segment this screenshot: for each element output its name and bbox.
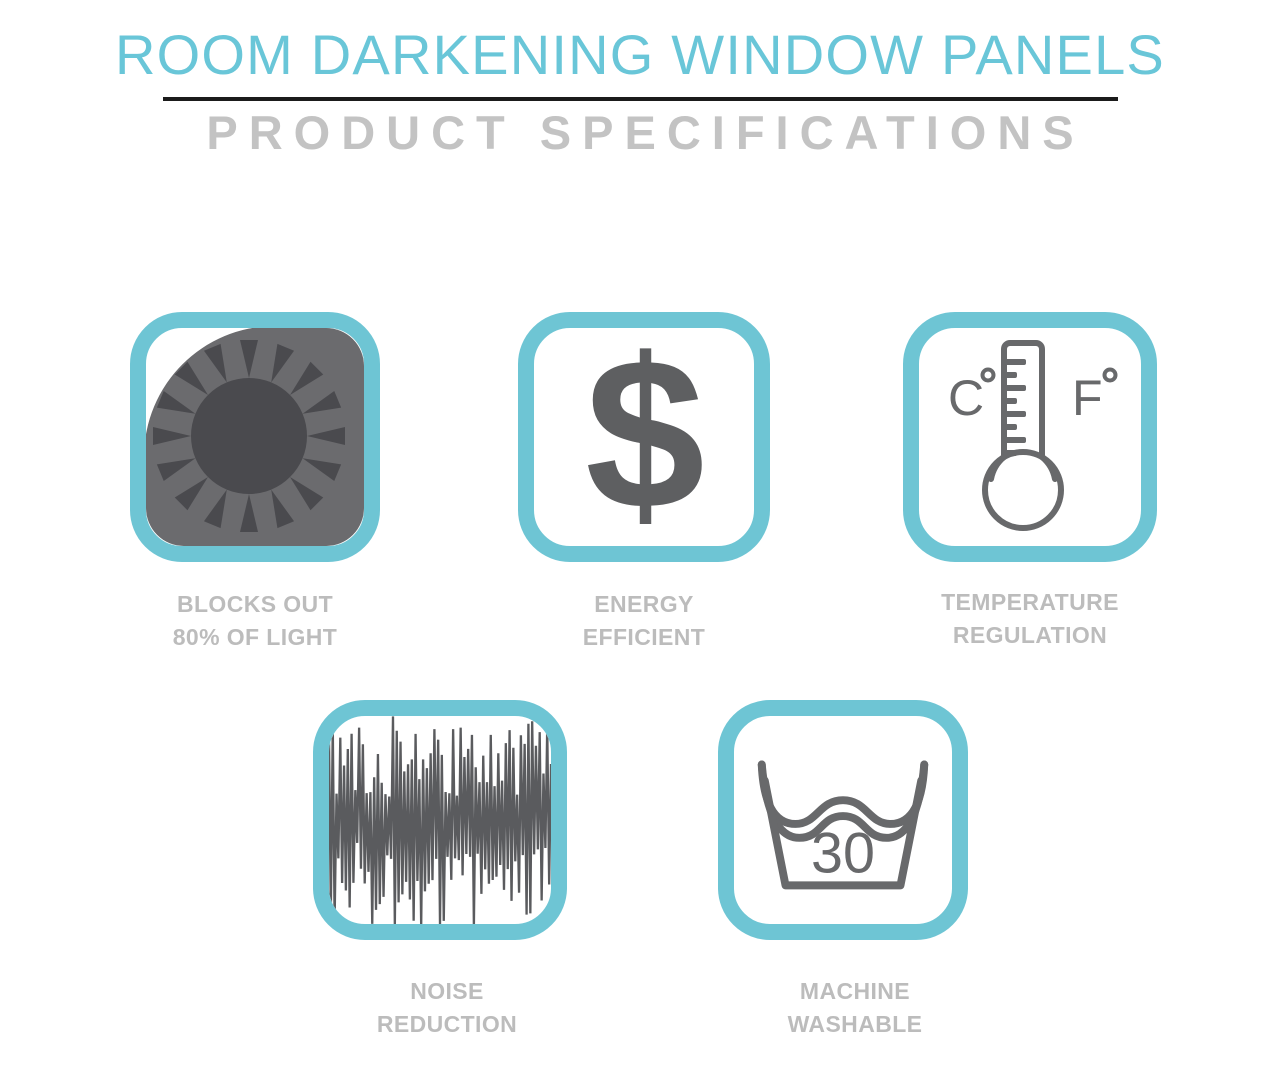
- feature-caption-energy: ENERGY EFFICIENT: [444, 588, 844, 654]
- feature-grid: BLOCKS OUT 80% OF LIGHT $ ENERGY EFFICIE…: [0, 0, 1280, 1073]
- svg-text:F: F: [1072, 370, 1103, 426]
- feature-caption-noise: NOISE REDUCTION: [247, 975, 647, 1041]
- wash-basin-icon: 30: [734, 716, 952, 924]
- feature-caption-washable: MACHINE WASHABLE: [655, 975, 1055, 1041]
- blocked-sun-icon: [146, 328, 364, 546]
- dollar-glyph: $: [585, 326, 703, 541]
- icon-tile-energy[interactable]: $: [518, 312, 770, 562]
- icon-tile-temperature[interactable]: C F: [903, 312, 1157, 562]
- icon-tile-washable[interactable]: 30: [718, 700, 968, 940]
- dollar-sign-icon: $: [534, 328, 754, 546]
- sound-wave-icon: [329, 716, 551, 924]
- svg-text:30: 30: [811, 822, 875, 886]
- thermometer-icon: C F: [919, 328, 1141, 546]
- icon-tile-blocks-light[interactable]: [130, 312, 380, 562]
- icon-tile-noise[interactable]: [313, 700, 567, 940]
- feature-caption-temperature: TEMPERATURE REGULATION: [830, 586, 1230, 652]
- feature-caption-blocks-light: BLOCKS OUT 80% OF LIGHT: [55, 588, 455, 654]
- svg-text:C: C: [948, 370, 984, 426]
